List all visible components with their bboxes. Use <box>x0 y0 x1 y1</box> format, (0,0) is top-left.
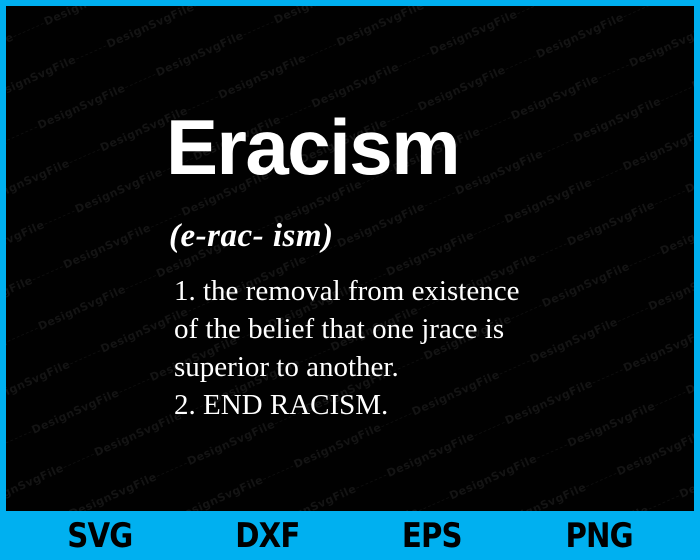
design-pronunciation: (e-rac- ism) <box>169 220 334 253</box>
format-label-eps: EPS <box>402 519 462 553</box>
format-label-svg: SVG <box>68 519 133 553</box>
design-headline: Eracism <box>166 112 459 184</box>
definition-item: 1. the removal from existence of the bel… <box>174 272 594 386</box>
design-definition-list: 1. the removal from existence of the bel… <box>174 272 594 424</box>
format-label-png: PNG <box>565 519 632 553</box>
design-artboard: DesignSvgFile-------DesignSvgFile-------… <box>6 6 694 511</box>
design-preview-canvas: DesignSvgFile-------DesignSvgFile-------… <box>0 0 700 560</box>
file-format-bar: SVG DXF EPS PNG <box>0 511 700 560</box>
format-label-dxf: DXF <box>236 519 300 553</box>
definition-item: 2. END RACISM. <box>174 386 594 424</box>
design-text-block: Eracism (e-rac- ism) 1. the removal from… <box>6 6 694 511</box>
